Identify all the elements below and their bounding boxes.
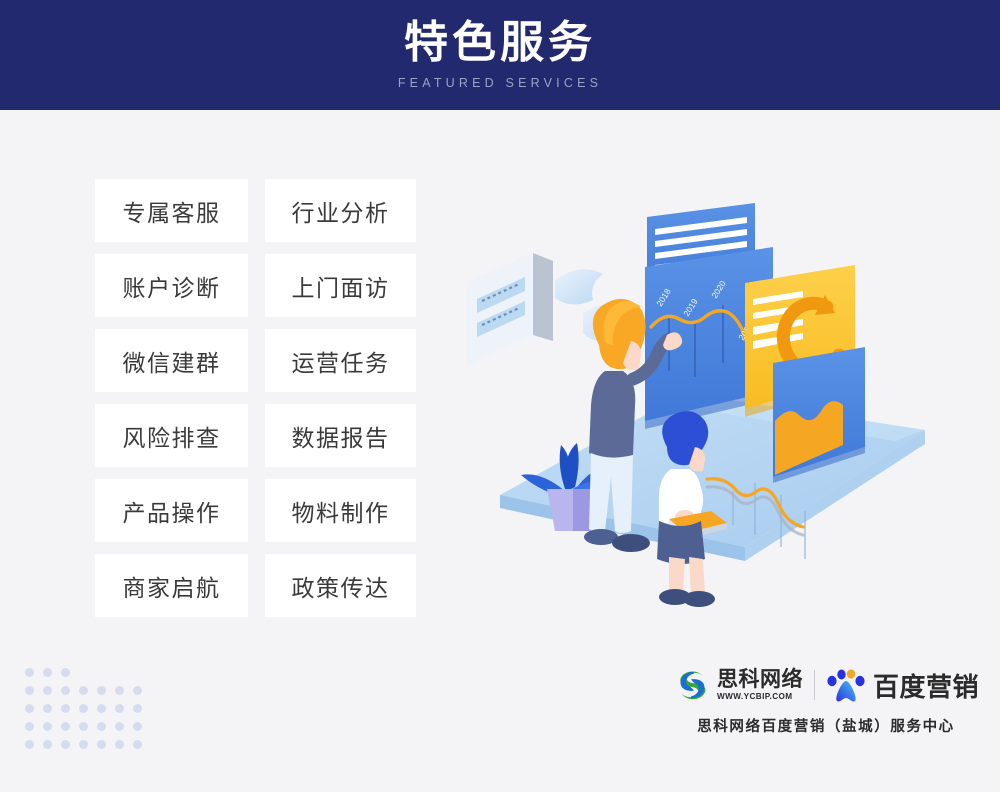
logo-divider [814, 670, 815, 700]
decorative-dot [43, 686, 52, 695]
decorative-dot [97, 722, 106, 731]
decorative-dot [97, 686, 106, 695]
decorative-dot [61, 668, 70, 677]
service-button-zhengcechuanda[interactable]: 政策传达 [265, 554, 416, 617]
service-button-chanpincaozuo[interactable]: 产品操作 [95, 479, 248, 542]
decorative-dot [25, 704, 34, 713]
baidu-brand-name: 百度营销 [873, 667, 979, 704]
decorative-dot [25, 722, 34, 731]
footer-branding: 思科网络 WWW.YCBIP.COM [672, 662, 980, 736]
decorative-dot [61, 704, 70, 713]
decorative-dot [43, 668, 52, 677]
service-button-wuliaozhizuo[interactable]: 物料制作 [265, 479, 416, 542]
page-header: 特色服务 FEATURED SERVICES [0, 0, 1000, 110]
service-button-shangmenmianfang[interactable]: 上门面访 [265, 254, 416, 317]
page-title: 特色服务 [404, 20, 596, 66]
decorative-dot [115, 740, 124, 749]
decorative-dot [25, 740, 34, 749]
service-button-shangjiaqihang[interactable]: 商家启航 [95, 554, 248, 617]
decorative-dot [115, 686, 124, 695]
footer-caption: 思科网络百度营销（盐城）服务中心 [672, 715, 980, 736]
decorative-dot [97, 740, 106, 749]
decorative-dot [115, 722, 124, 731]
service-button-yunyingrenwu[interactable]: 运营任务 [265, 329, 416, 392]
sike-swirl-icon [673, 666, 711, 704]
baidu-paw-icon [826, 668, 866, 702]
decorative-dot [79, 740, 88, 749]
decorative-dot [25, 686, 34, 695]
decorative-dot [133, 740, 142, 749]
document-card-panel [467, 253, 553, 367]
decorative-dot [133, 722, 142, 731]
service-grid: 专属客服 行业分析 账户诊断 上门面访 微信建群 运营任务 风险排查 数据报告 … [95, 179, 416, 617]
decorative-dot [25, 668, 34, 677]
decorative-dot [97, 668, 106, 677]
dot-grid-decoration [25, 668, 151, 758]
sike-text-block: 思科网络 WWW.YCBIP.COM [717, 669, 803, 702]
service-button-shujubaogao[interactable]: 数据报告 [265, 404, 416, 467]
page-root: 特色服务 FEATURED SERVICES 专属客服 行业分析 账户诊断 上门… [0, 0, 1000, 792]
sike-logo[interactable]: 思科网络 WWW.YCBIP.COM [673, 666, 803, 704]
decorative-dot [43, 740, 52, 749]
decorative-dot [61, 722, 70, 731]
decorative-dot [43, 722, 52, 731]
decorative-dot [97, 704, 106, 713]
sike-company-name: 思科网络 [717, 669, 803, 691]
decorative-dot [79, 704, 88, 713]
decorative-dot [43, 704, 52, 713]
decorative-dot [133, 704, 142, 713]
decorative-dot [79, 668, 88, 677]
page-subtitle: FEATURED SERVICES [398, 76, 602, 90]
service-button-hangyefenxi[interactable]: 行业分析 [265, 179, 416, 242]
decorative-dot [79, 686, 88, 695]
logo-row: 思科网络 WWW.YCBIP.COM [672, 662, 980, 708]
decorative-dot [61, 740, 70, 749]
decorative-dot [115, 668, 124, 677]
decorative-dot [79, 722, 88, 731]
service-button-weixinjianqun[interactable]: 微信建群 [95, 329, 248, 392]
service-button-zhanghuzhenduan[interactable]: 账户诊断 [95, 254, 248, 317]
decorative-dot [61, 686, 70, 695]
service-button-zhuanshukefu[interactable]: 专属客服 [95, 179, 248, 242]
decorative-dot [133, 686, 142, 695]
isometric-illustration: 2018 2019 2020 2021 [455, 195, 935, 625]
decorative-dot [133, 668, 142, 677]
baidu-logo[interactable]: 百度营销 [826, 667, 979, 704]
decorative-dot [115, 704, 124, 713]
service-button-fengxianpaicha[interactable]: 风险排查 [95, 404, 248, 467]
sike-website-url: WWW.YCBIP.COM [717, 692, 793, 702]
